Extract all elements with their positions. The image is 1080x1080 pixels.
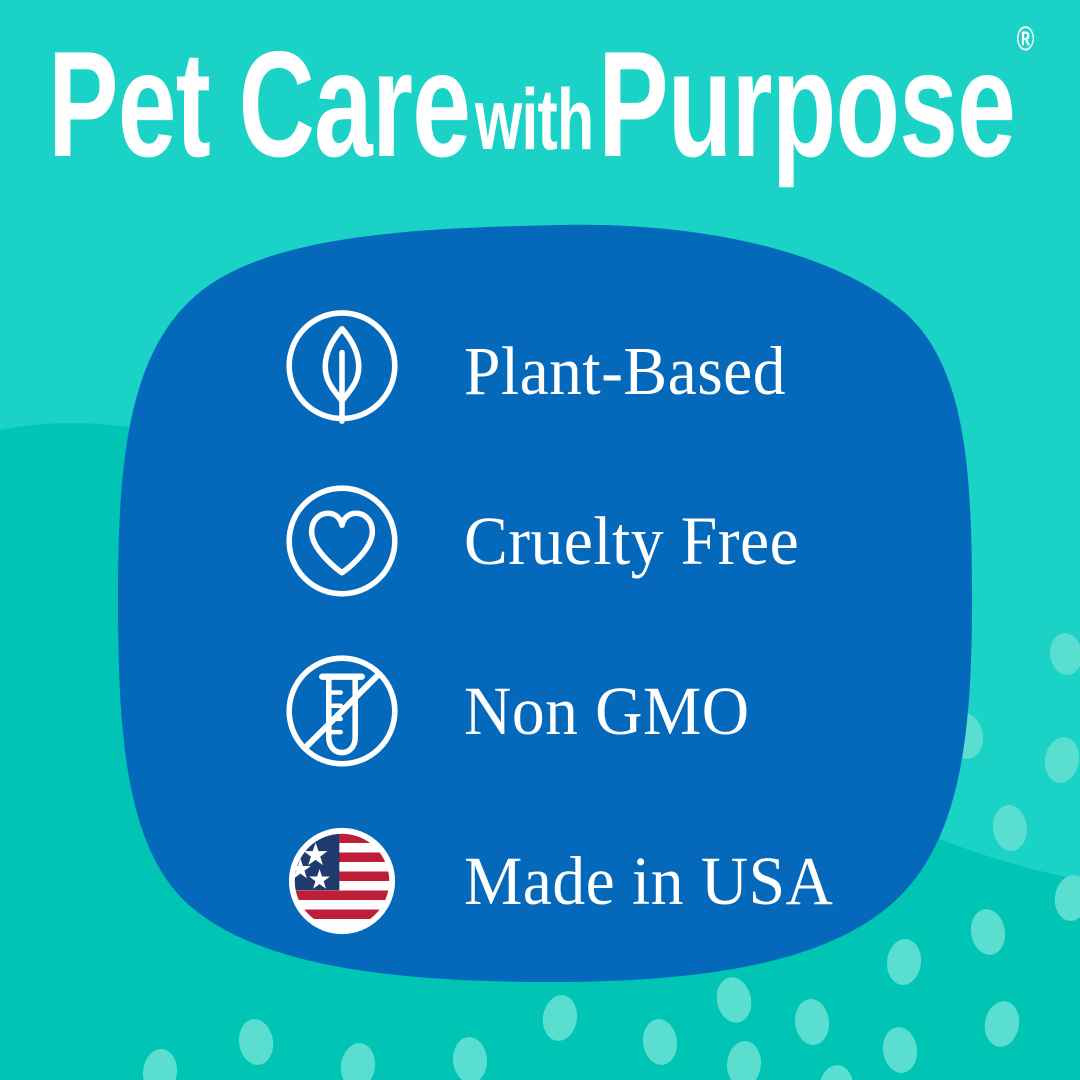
feature-label-plant-based: Plant-Based [464,337,786,406]
heart-in-circle-icon [276,475,408,607]
feature-row-non-gmo: Non GMO [276,626,916,796]
feature-list: Plant-Based Cruelty Free [276,286,916,966]
feature-row-cruelty-free: Cruelty Free [276,456,916,626]
feature-label-made-in-usa: Made in USA [464,847,833,916]
leaf-in-circle-icon [276,305,408,437]
no-test-tube-icon [276,645,408,777]
feature-label-non-gmo: Non GMO [464,677,750,746]
promo-graphic: Pet CarewithPurpose® Plant-Based Cruelty… [0,0,1080,1080]
feature-label-cruelty-free: Cruelty Free [464,507,799,576]
usa-flag-circle-icon [276,815,408,947]
feature-row-plant-based: Plant-Based [276,286,916,456]
feature-row-made-in-usa: Made in USA [276,796,916,966]
